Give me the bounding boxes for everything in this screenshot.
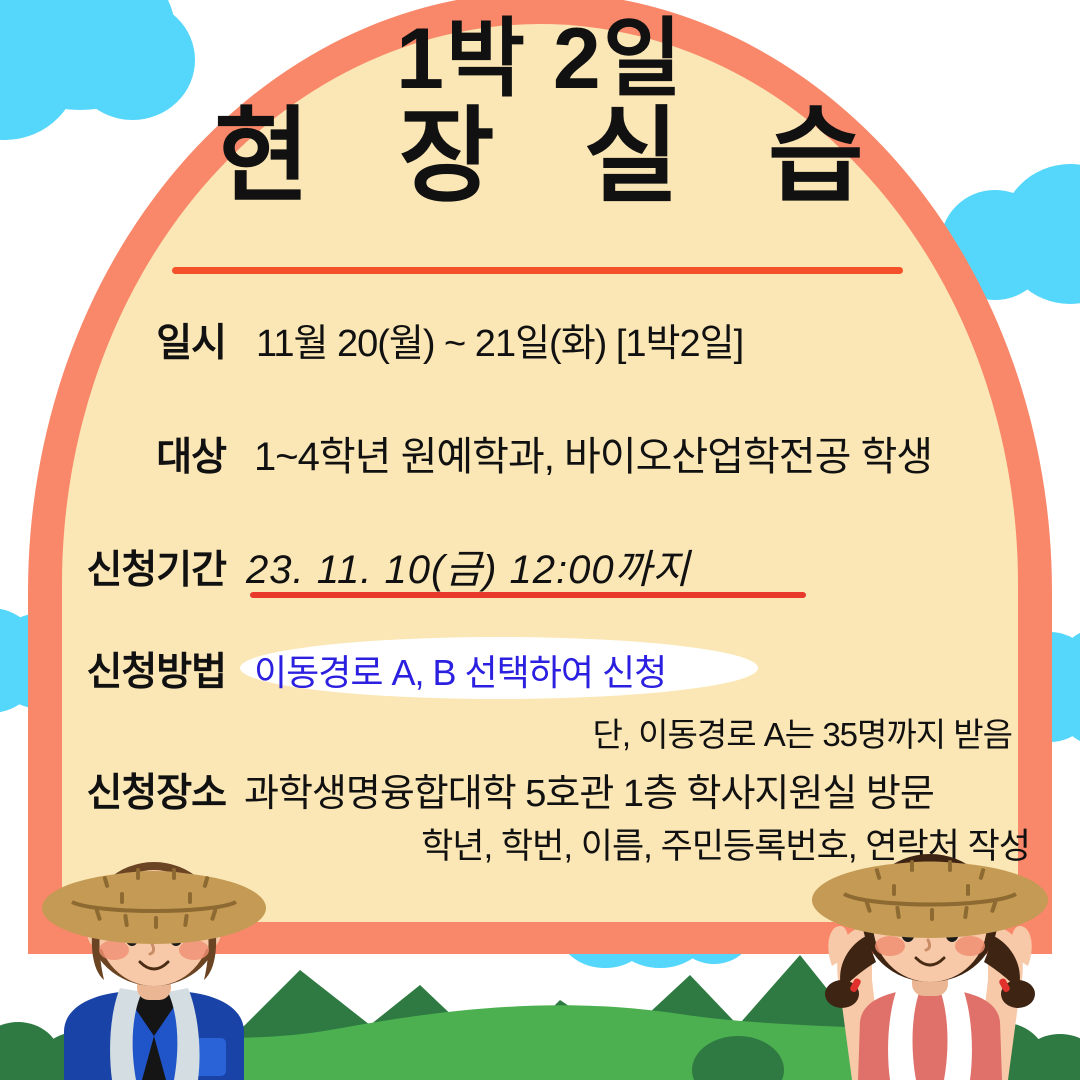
title-line-1: 1박 2일 <box>0 14 1080 104</box>
info-label-target: 대상 <box>132 426 226 482</box>
info-note-method: 단, 이동경로 A는 35명까지 받음 <box>0 708 1012 756</box>
poster-canvas: 1박 2일 현 장 실 습 일시 11월 20(월) ~ 21일(화) [1박2… <box>0 0 1080 1080</box>
info-row-target: 대상 1~4학년 원예학과, 바이오산업학전공 학생 <box>132 424 932 482</box>
info-value-period: 23. 11. 10(금) 12:00까지 <box>246 537 690 595</box>
info-value-date: 11월 20(월) ~ 21일(화) [1박2일] <box>256 312 743 367</box>
info-row-place: 신청장소 과학생명융합대학 5호관 1층 학사지원실 방문 <box>62 762 934 818</box>
period-underline <box>250 592 806 598</box>
info-value-place: 과학생명융합대학 5호관 1층 학사지원실 방문 <box>244 762 934 817</box>
info-label-date: 일시 <box>132 312 226 368</box>
info-label-method: 신청방법 <box>62 641 226 697</box>
info-row-period: 신청기간 23. 11. 10(금) 12:00까지 <box>62 537 690 595</box>
page-title: 1박 2일 현 장 실 습 <box>0 14 1080 215</box>
info-label-place: 신청장소 <box>62 762 226 818</box>
info-label-period: 신청기간 <box>62 539 226 595</box>
boy-farmer-illustration <box>24 846 284 1080</box>
info-value-target: 1~4학년 원예학과, 바이오산업학전공 학생 <box>254 424 932 482</box>
title-line-2: 현 장 실 습 <box>0 100 1080 214</box>
title-divider <box>172 267 903 274</box>
info-row-date: 일시 11월 20(월) ~ 21일(화) [1박2일] <box>132 312 743 368</box>
info-value-method: 이동경로 A, B 선택하여 신청 <box>234 644 666 696</box>
info-row-method: 신청방법 이동경로 A, B 선택하여 신청 <box>62 641 666 697</box>
girl-farmer-illustration <box>780 840 1080 1080</box>
